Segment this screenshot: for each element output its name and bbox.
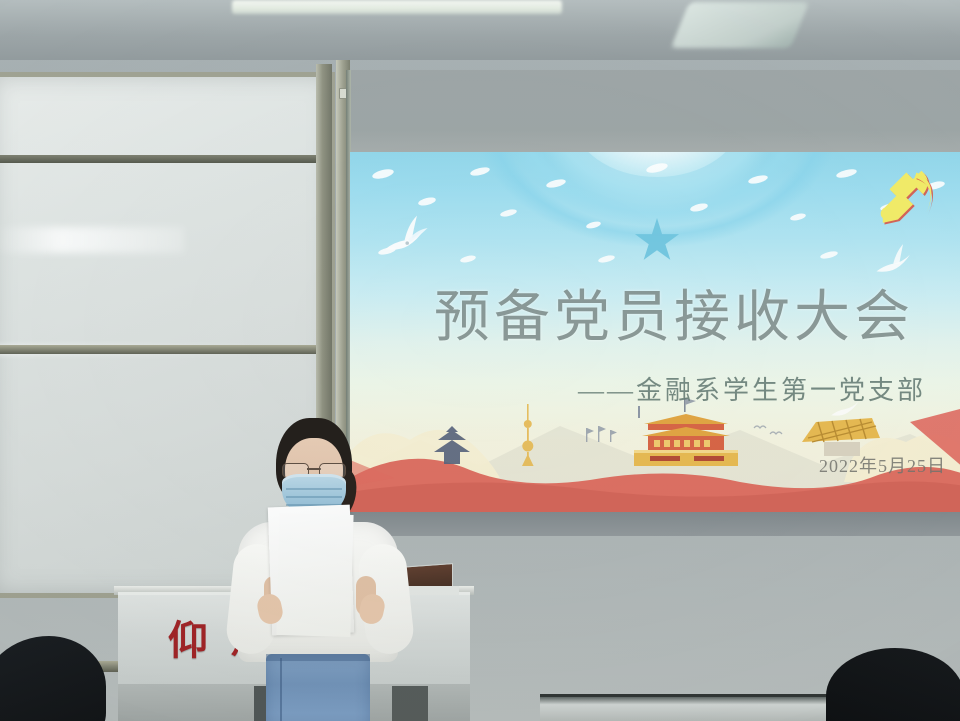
whiteboard-top-rail <box>0 155 330 163</box>
slide-date: 2022年5月25日 <box>819 452 946 478</box>
classroom-photo-scene: 预备党员接收大会 ——金融系学生第一党支部 2022年5月25日 仰恩大学 <box>0 0 960 721</box>
speaker-jeans-seam <box>280 658 282 721</box>
slide-subtitle: ——金融系学生第一党支部 <box>578 370 926 407</box>
party-emblem-icon <box>866 158 950 244</box>
star-icon <box>634 218 680 264</box>
ceiling-light-icon <box>671 2 810 48</box>
dove-icon <box>378 210 440 262</box>
presentation-slide: 预备党员接收大会 ——金融系学生第一党支部 2022年5月25日 <box>350 152 960 512</box>
whiteboard-middle-rail <box>0 345 330 354</box>
ceiling-light-icon <box>232 0 562 14</box>
back-table <box>540 694 870 721</box>
projection-screen-bottom-bar <box>348 512 960 536</box>
slide-title: 预备党员接收大会 <box>434 272 960 353</box>
speaker <box>230 418 410 721</box>
speech-paper <box>276 513 353 637</box>
projection-screen-unlit-top <box>348 70 960 156</box>
whiteboard-glare <box>0 227 184 253</box>
